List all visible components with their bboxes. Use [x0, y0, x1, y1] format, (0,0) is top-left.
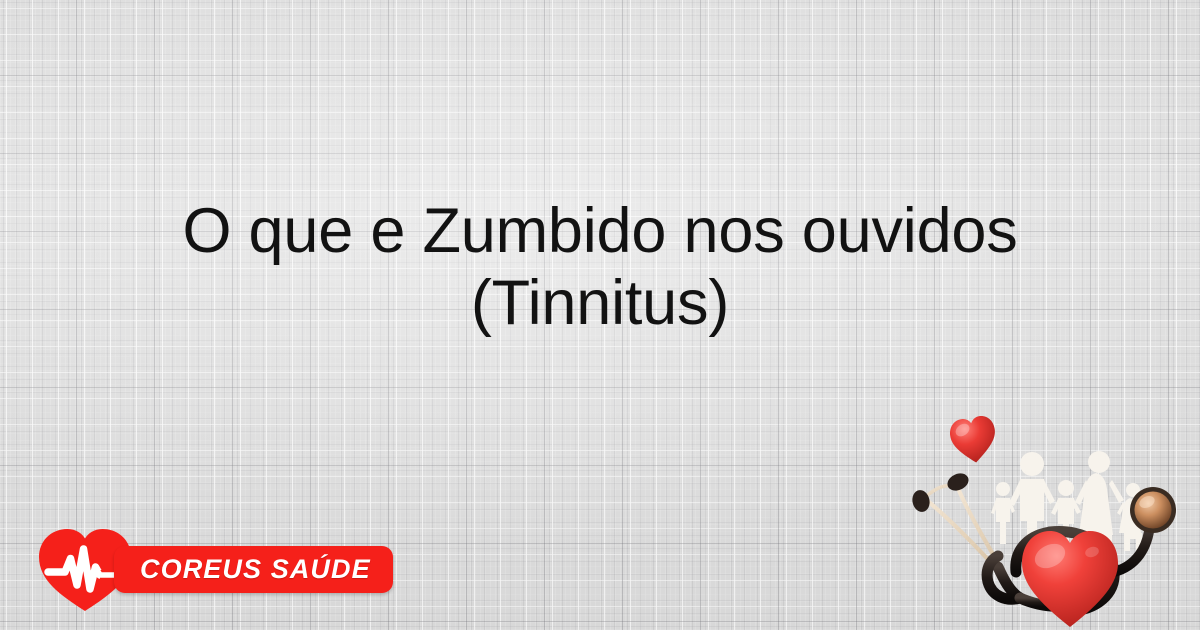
poster-canvas: O que e Zumbido nos ouvidos (Tinnitus) C…	[0, 0, 1200, 630]
brand-badge[interactable]: COREUS SAÚDE	[114, 546, 393, 593]
heart-large-icon	[1022, 531, 1118, 627]
health-family-stethoscope-illustration	[900, 402, 1200, 630]
brand-lockup[interactable]: COREUS SAÚDE	[36, 523, 393, 615]
page-title: O que e Zumbido nos ouvidos (Tinnitus)	[60, 196, 1140, 340]
brand-badge-label: COREUS SAÚDE	[140, 554, 371, 585]
heart-small-icon	[948, 414, 999, 465]
